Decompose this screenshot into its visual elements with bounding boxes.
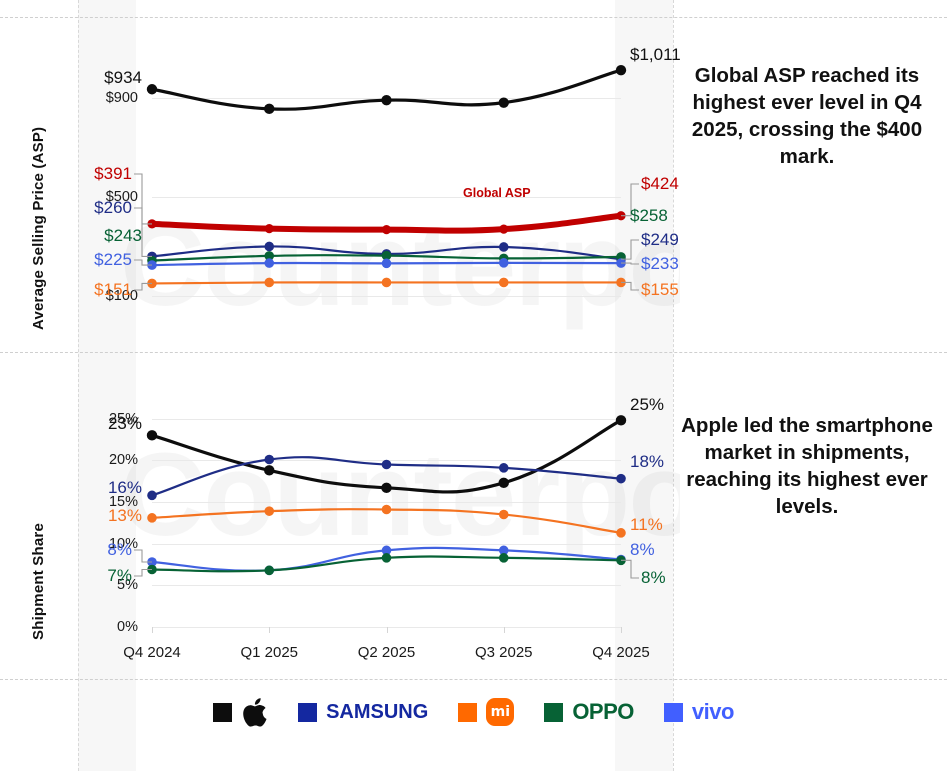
data-point bbox=[381, 95, 391, 105]
data-label-vivo-right: 8% bbox=[630, 540, 655, 560]
chart-series-layer bbox=[88, 18, 673, 336]
global-asp-series-tag: Global ASP bbox=[463, 186, 531, 200]
data-label-oppo-right: 8% bbox=[641, 568, 666, 588]
legend-swatch-apple bbox=[213, 703, 232, 722]
data-point bbox=[499, 242, 509, 252]
data-point bbox=[616, 528, 626, 538]
xiaomi-mi-logo-icon: mi bbox=[486, 698, 514, 726]
legend-swatch-samsung bbox=[298, 703, 317, 722]
asp-callout-text: Global ASP reached its highest ever leve… bbox=[676, 62, 938, 170]
share-callout-text: Apple led the smartphone market in shipm… bbox=[676, 412, 938, 520]
vivo-wordmark-icon: vivo bbox=[692, 699, 734, 725]
asp-line-chart: $900$500$100$934$391$260$243$225$151$1,0… bbox=[88, 18, 673, 336]
data-point bbox=[264, 104, 274, 114]
data-label-samsung-right: $249 bbox=[641, 230, 679, 250]
data-label-samsung-right: 18% bbox=[630, 452, 664, 472]
samsung-wordmark-icon: SAMSUNG bbox=[326, 701, 428, 724]
data-label-oppo-right: $258 bbox=[630, 206, 668, 226]
data-point bbox=[382, 259, 392, 269]
data-point bbox=[499, 510, 509, 520]
data-label-oppo-left: $243 bbox=[104, 226, 142, 246]
data-point bbox=[381, 483, 391, 493]
data-point bbox=[382, 505, 392, 515]
data-point bbox=[264, 242, 274, 252]
brand-legend: SAMSUNGmiOPPOvivo bbox=[0, 686, 947, 738]
legend-item-oppo[interactable]: OPPO bbox=[544, 699, 634, 725]
data-point bbox=[499, 258, 509, 268]
data-label-samsung-left: $260 bbox=[94, 198, 132, 218]
apple-logo-icon bbox=[241, 697, 268, 728]
data-point bbox=[499, 278, 509, 288]
data-point bbox=[382, 225, 391, 234]
data-point bbox=[499, 478, 509, 488]
data-label-xiaomi-right: $155 bbox=[641, 280, 679, 300]
data-label-apple-right: $1,011 bbox=[630, 45, 681, 65]
label-leader-line bbox=[134, 174, 152, 224]
data-label-vivo-left: $225 bbox=[94, 250, 132, 270]
data-label-oppo-left: 7% bbox=[107, 566, 132, 586]
data-point bbox=[147, 430, 157, 440]
data-label-samsung-left: 16% bbox=[108, 478, 142, 498]
data-label-xiaomi-right: 11% bbox=[630, 515, 663, 535]
data-point bbox=[264, 465, 274, 475]
data-point bbox=[147, 513, 157, 523]
data-label-apple-left: 23% bbox=[108, 414, 142, 434]
data-point bbox=[616, 474, 626, 484]
data-label-vivo-left: 8% bbox=[107, 540, 132, 560]
legend-item-vivo[interactable]: vivo bbox=[664, 699, 734, 725]
data-label-global-asp-right: $424 bbox=[641, 174, 679, 194]
data-label-apple-right: 25% bbox=[630, 395, 664, 415]
infographic-page: Counterpoint Counterpoint Average Sellin… bbox=[0, 0, 947, 771]
data-point bbox=[382, 553, 392, 563]
separator-bottom bbox=[0, 679, 947, 680]
share-axis-title: Shipment Share bbox=[30, 440, 47, 640]
data-point bbox=[382, 278, 392, 288]
data-label-xiaomi-left: $151 bbox=[94, 280, 132, 300]
data-label-xiaomi-left: 13% bbox=[108, 506, 142, 526]
data-point bbox=[499, 225, 508, 234]
data-point bbox=[499, 553, 509, 563]
data-point bbox=[616, 415, 626, 425]
data-point bbox=[264, 506, 274, 516]
legend-swatch-oppo bbox=[544, 703, 563, 722]
data-label-apple-left: $934 bbox=[104, 68, 142, 88]
data-point bbox=[264, 566, 274, 576]
data-label-vivo-right: $233 bbox=[641, 254, 679, 274]
legend-item-apple[interactable] bbox=[213, 697, 268, 728]
data-point bbox=[499, 463, 509, 473]
column-rule-left bbox=[78, 0, 79, 771]
data-point bbox=[499, 97, 509, 107]
data-label-global-asp-left: $391 bbox=[94, 164, 132, 184]
share-line-chart: 25%20%15%10%5%0%Q4 2024Q1 2025Q2 2025Q3 … bbox=[88, 380, 673, 665]
legend-item-xiaomi[interactable]: mi bbox=[458, 698, 514, 726]
data-point bbox=[147, 491, 157, 501]
legend-swatch-xiaomi bbox=[458, 703, 477, 722]
data-point bbox=[616, 65, 626, 75]
legend-item-samsung[interactable]: SAMSUNG bbox=[298, 701, 428, 724]
asp-axis-title: Average Selling Price (ASP) bbox=[30, 20, 47, 330]
column-rule-right bbox=[673, 0, 674, 771]
separator-middle bbox=[0, 352, 947, 353]
chart-series-layer bbox=[88, 380, 673, 665]
data-point bbox=[382, 460, 392, 470]
data-point bbox=[265, 224, 274, 233]
legend-swatch-vivo bbox=[664, 703, 683, 722]
data-point bbox=[264, 278, 274, 288]
data-point bbox=[264, 455, 274, 465]
oppo-wordmark-icon: OPPO bbox=[572, 699, 634, 725]
series-line-apple bbox=[152, 420, 621, 492]
data-point bbox=[147, 84, 157, 94]
data-point bbox=[264, 258, 274, 268]
